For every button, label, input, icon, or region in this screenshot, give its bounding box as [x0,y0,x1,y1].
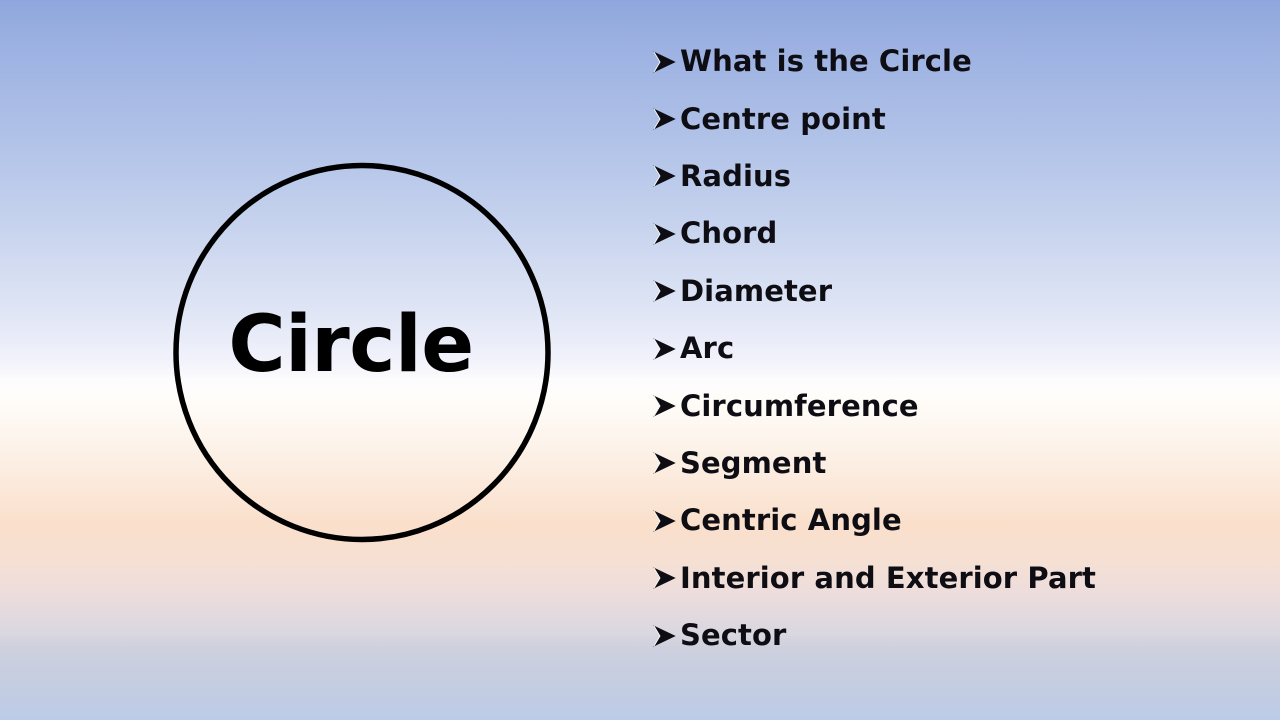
list-item-label: Diameter [680,277,832,306]
list-item-label: Chord [680,219,777,248]
list-item[interactable]: Centre point [650,90,1250,147]
arrowhead-bullet-icon [650,450,680,476]
circle-outline-icon [173,163,551,542]
arrowhead-bullet-icon [650,49,680,75]
list-item-label: Interior and Exterior Part [680,564,1096,593]
arrowhead-bullet-icon [650,163,680,189]
list-item[interactable]: Sector [650,607,1250,664]
list-item[interactable]: Radius [650,148,1250,205]
arrowhead-bullet-icon [650,393,680,419]
list-item-label: What is the Circle [680,47,972,76]
arrowhead-bullet-icon [650,278,680,304]
list-item-label: Centric Angle [680,506,902,535]
arrowhead-bullet-icon [650,565,680,591]
list-item-label: Segment [680,449,826,478]
list-item[interactable]: Centric Angle [650,492,1250,549]
topic-list: What is the Circle Centre point Radius [650,33,1250,664]
list-item[interactable]: Chord [650,205,1250,262]
arrowhead-bullet-icon [650,221,680,247]
list-item[interactable]: What is the Circle [650,33,1250,90]
list-item-label: Centre point [680,105,886,134]
arrowhead-bullet-icon [650,508,680,534]
list-item[interactable]: Arc [650,320,1250,377]
list-item-label: Circumference [680,392,919,421]
list-item-label: Arc [680,334,734,363]
slide-canvas: Circle What is the Circle Centre point [0,0,1280,720]
arrowhead-bullet-icon [650,106,680,132]
list-item[interactable]: Circumference [650,377,1250,434]
circle-diagram: Circle [173,163,551,542]
arrowhead-bullet-icon [650,336,680,362]
list-item-label: Radius [680,162,791,191]
list-item[interactable]: Interior and Exterior Part [650,550,1250,607]
arrowhead-bullet-icon [650,623,680,649]
list-item[interactable]: Segment [650,435,1250,492]
list-item[interactable]: Diameter [650,263,1250,320]
list-item-label: Sector [680,621,786,650]
